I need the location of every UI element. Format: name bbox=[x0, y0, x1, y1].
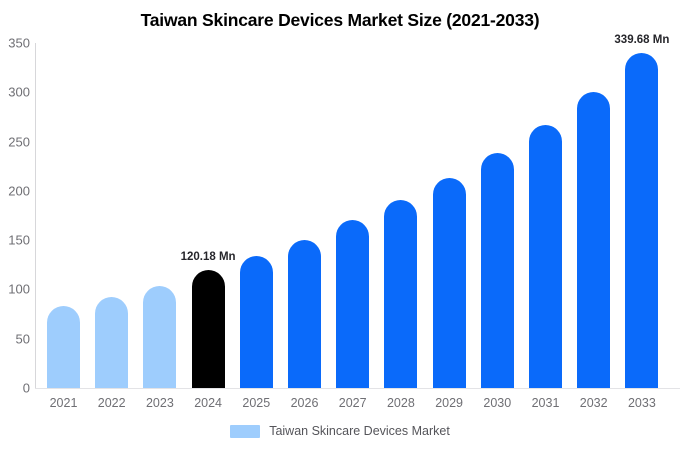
y-axis-tick-200: 200 bbox=[0, 183, 30, 198]
bar-2023[interactable] bbox=[143, 43, 176, 388]
bar-rect-2023[interactable] bbox=[143, 286, 176, 389]
bar-2026[interactable] bbox=[288, 43, 321, 388]
x-axis-line bbox=[35, 388, 680, 389]
bar-rect-2024[interactable] bbox=[192, 270, 225, 388]
bar-rect-2027[interactable] bbox=[336, 220, 369, 388]
bar-2025[interactable] bbox=[240, 43, 273, 388]
bar-2022[interactable] bbox=[95, 43, 128, 388]
bar-rect-2025[interactable] bbox=[240, 256, 273, 388]
bar-2032[interactable] bbox=[577, 43, 610, 388]
y-axis-tick-150: 150 bbox=[0, 233, 30, 248]
bar-2030[interactable] bbox=[481, 43, 514, 388]
x-axis-tick-2023: 2023 bbox=[143, 396, 176, 410]
bar-rect-2021[interactable] bbox=[47, 306, 80, 388]
bar-value-label-2024: 120.18 Mn bbox=[181, 251, 236, 263]
x-axis-tick-2024: 2024 bbox=[192, 396, 225, 410]
bars-layer: 120.18 Mn339.68 Mn bbox=[36, 43, 680, 388]
bar-chart: Taiwan Skincare Devices Market Size (202… bbox=[0, 0, 680, 450]
y-axis-tick-350: 350 bbox=[0, 36, 30, 51]
bar-rect-2031[interactable] bbox=[529, 125, 562, 388]
x-axis-tick-2032: 2032 bbox=[577, 396, 610, 410]
x-axis-tick-2021: 2021 bbox=[47, 396, 80, 410]
bar-rect-2030[interactable] bbox=[481, 153, 514, 388]
x-axis-tick-2026: 2026 bbox=[288, 396, 321, 410]
bar-2033[interactable]: 339.68 Mn bbox=[625, 43, 658, 388]
bar-rect-2022[interactable] bbox=[95, 297, 128, 388]
legend-label-taiwan-skincare-devices-market: Taiwan Skincare Devices Market bbox=[269, 424, 450, 438]
x-axis-tick-2022: 2022 bbox=[95, 396, 128, 410]
x-axis-tick-2029: 2029 bbox=[433, 396, 466, 410]
bar-value-label-2033: 339.68 Mn bbox=[614, 34, 669, 46]
x-axis-tick-2025: 2025 bbox=[240, 396, 273, 410]
x-axis-tick-2033: 2033 bbox=[625, 396, 658, 410]
bar-rect-2032[interactable] bbox=[577, 92, 610, 388]
bar-2027[interactable] bbox=[336, 43, 369, 388]
y-axis-tick-250: 250 bbox=[0, 134, 30, 149]
x-axis-tick-2030: 2030 bbox=[481, 396, 514, 410]
x-axis-tick-2031: 2031 bbox=[529, 396, 562, 410]
x-axis-tick-2028: 2028 bbox=[384, 396, 417, 410]
bar-2024[interactable]: 120.18 Mn bbox=[192, 43, 225, 388]
y-axis: 050100150200250300350 bbox=[0, 0, 30, 450]
bar-2021[interactable] bbox=[47, 43, 80, 388]
bar-2029[interactable] bbox=[433, 43, 466, 388]
chart-legend: Taiwan Skincare Devices Market bbox=[0, 424, 680, 438]
x-axis-tick-2027: 2027 bbox=[336, 396, 369, 410]
chart-title: Taiwan Skincare Devices Market Size (202… bbox=[0, 10, 680, 31]
bar-rect-2028[interactable] bbox=[384, 200, 417, 388]
bar-rect-2026[interactable] bbox=[288, 240, 321, 388]
y-axis-tick-0: 0 bbox=[0, 381, 30, 396]
y-axis-tick-50: 50 bbox=[0, 331, 30, 346]
bar-rect-2033[interactable] bbox=[625, 53, 658, 388]
bar-2028[interactable] bbox=[384, 43, 417, 388]
bar-rect-2029[interactable] bbox=[433, 178, 466, 388]
x-axis: 2021202220232024202520262027202820292030… bbox=[36, 396, 680, 416]
y-axis-tick-300: 300 bbox=[0, 85, 30, 100]
bar-2031[interactable] bbox=[529, 43, 562, 388]
y-axis-tick-100: 100 bbox=[0, 282, 30, 297]
legend-swatch-taiwan-skincare-devices-market bbox=[230, 425, 260, 438]
